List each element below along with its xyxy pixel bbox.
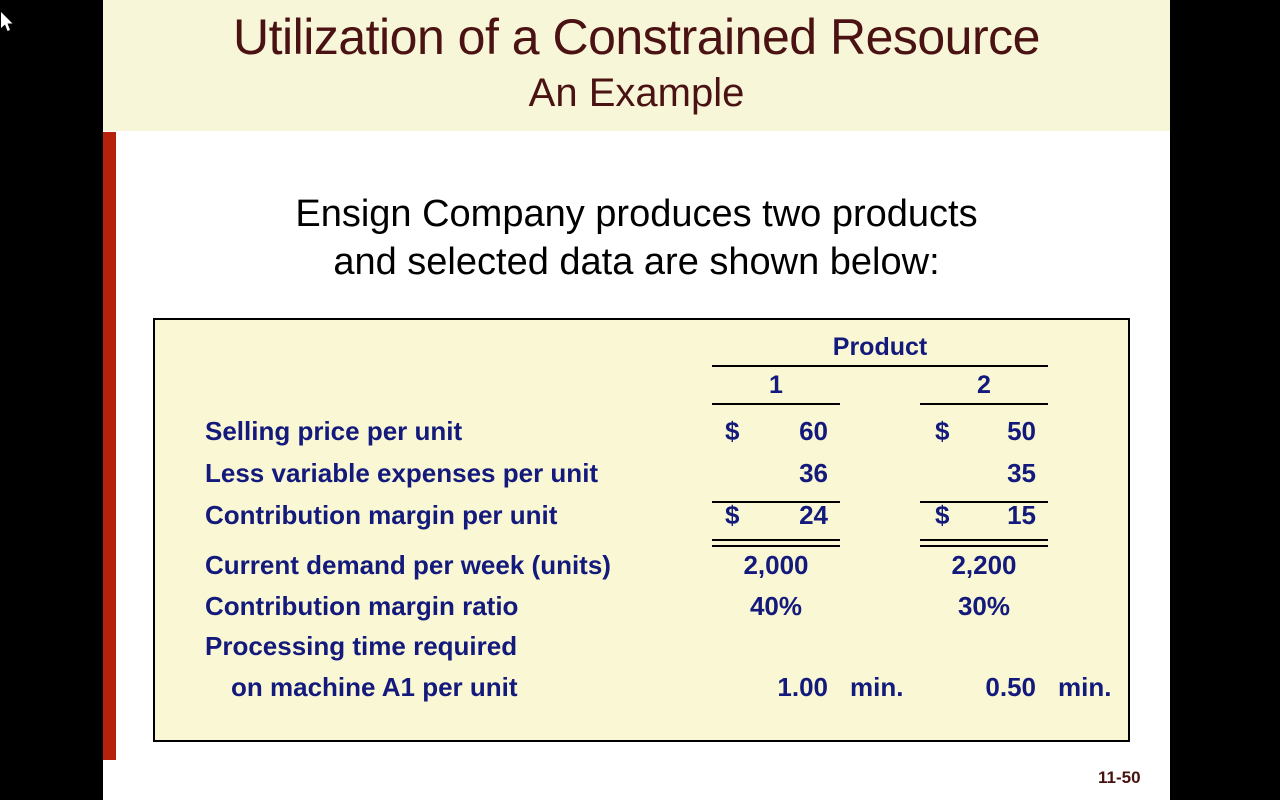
- table-group-header: Product: [712, 332, 1048, 362]
- group-header-rule: [712, 365, 1048, 367]
- row-selling-price-value-1: 60: [740, 416, 828, 446]
- page-title: Utilization of a Constrained Resource: [103, 6, 1170, 68]
- row-contribution-margin-currency-1: $: [725, 500, 739, 530]
- column-header-product-1: 1: [712, 370, 840, 400]
- row-current-demand-value-1: 2,000: [712, 550, 840, 580]
- row-current-demand-value-2: 2,200: [920, 550, 1048, 580]
- table-row-label-processing-time-continued: on machine A1 per unit: [231, 672, 518, 702]
- row-variable-expenses-value-1: 36: [740, 458, 828, 488]
- presentation-slide: Utilization of a Constrained Resource An…: [103, 0, 1170, 800]
- table-row-label-current-demand: Current demand per week (units): [205, 550, 611, 580]
- table-row-label-contribution-margin: Contribution margin per unit: [205, 500, 557, 530]
- row-processing-time-value-2: 0.50: [948, 672, 1036, 702]
- column-2-total-double-rule: [920, 539, 1048, 547]
- row-variable-expenses-value-2: 35: [948, 458, 1036, 488]
- intro-line-2: and selected data are shown below:: [103, 238, 1170, 286]
- row-selling-price-value-2: 50: [948, 416, 1036, 446]
- table-row-label-selling-price: Selling price per unit: [205, 416, 462, 446]
- column-2-header-rule: [920, 403, 1048, 405]
- row-contribution-margin-value-2: 15: [948, 500, 1036, 530]
- table-row-label-variable-expenses: Less variable expenses per unit: [205, 458, 598, 488]
- row-processing-time-value-1: 1.00: [740, 672, 828, 702]
- page-subtitle: An Example: [103, 68, 1170, 118]
- row-selling-price-currency-1: $: [725, 416, 739, 446]
- row-processing-time-unit-2: min.: [1058, 672, 1111, 702]
- row-cm-ratio-value-1: 40%: [712, 591, 840, 621]
- column-header-product-2: 2: [920, 370, 1048, 400]
- row-processing-time-unit-1: min.: [850, 672, 903, 702]
- data-table: Product 1 2 Selling price per unit $ 60 …: [155, 320, 1128, 740]
- slide-title-banner: Utilization of a Constrained Resource An…: [103, 0, 1170, 131]
- mouse-pointer-arrow-icon: [1, 12, 15, 34]
- column-1-total-double-rule: [712, 539, 840, 547]
- intro-text-block: Ensign Company produces two products and…: [103, 190, 1170, 286]
- column-1-header-rule: [712, 403, 840, 405]
- row-cm-ratio-value-2: 30%: [920, 591, 1048, 621]
- table-row-label-processing-time: Processing time required: [205, 631, 517, 661]
- table-row-label-cm-ratio: Contribution margin ratio: [205, 591, 518, 621]
- row-contribution-margin-value-1: 24: [740, 500, 828, 530]
- data-table-box: Product 1 2 Selling price per unit $ 60 …: [153, 318, 1130, 742]
- slide-number: 11-50: [1098, 768, 1141, 788]
- screen-backdrop: Utilization of a Constrained Resource An…: [0, 0, 1280, 800]
- intro-line-1: Ensign Company produces two products: [103, 190, 1170, 238]
